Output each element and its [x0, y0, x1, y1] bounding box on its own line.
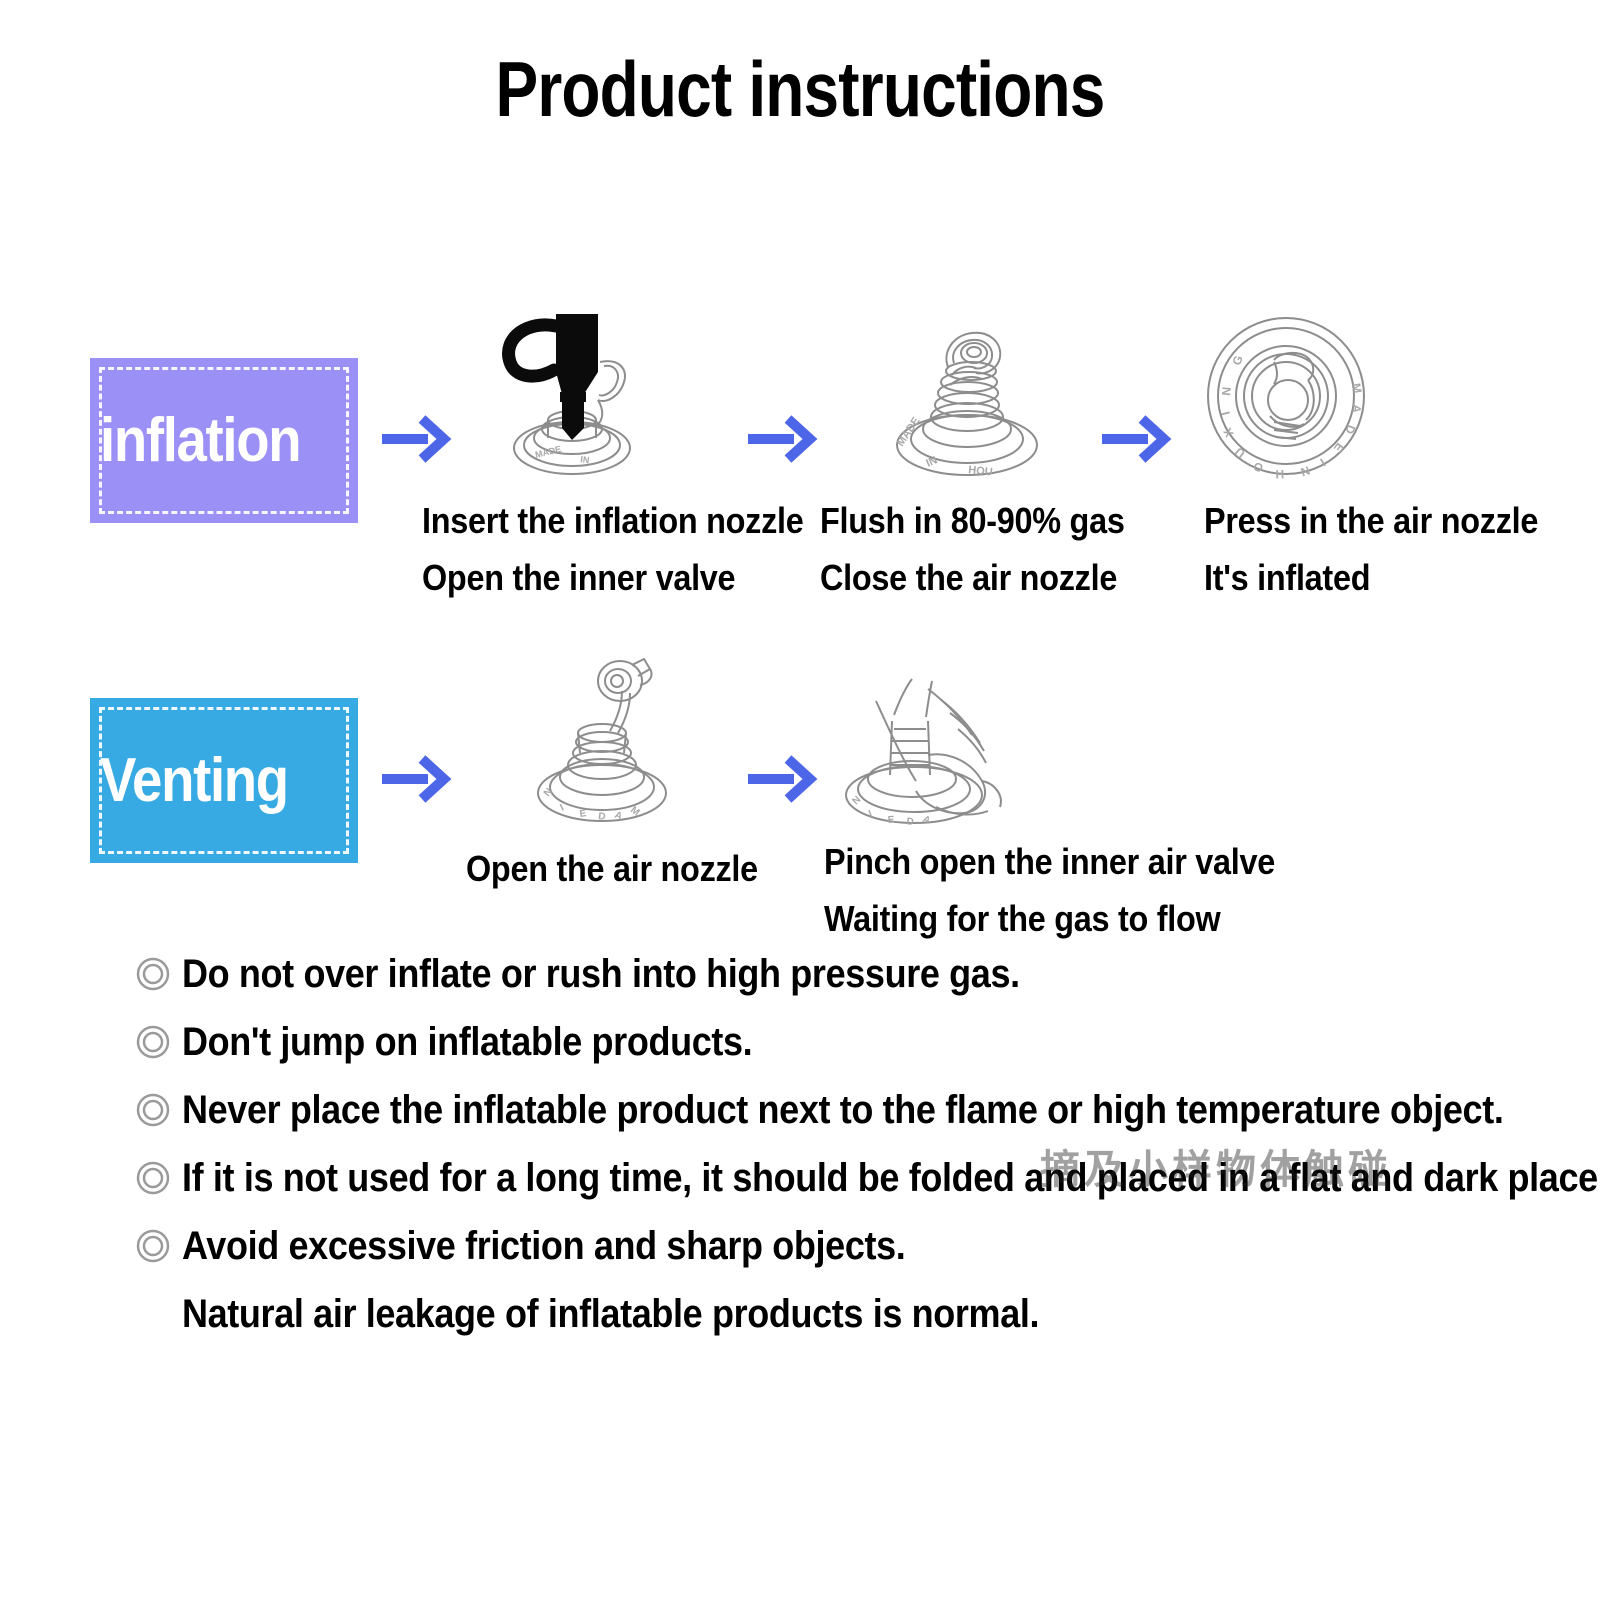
list-item: Natural air leakage of inflatable produc… [136, 1286, 1566, 1360]
double-circle-bullet-icon [136, 1082, 182, 1138]
note-text: If it is not used for a long time, it sh… [182, 1150, 1600, 1206]
valve-closed-icon: MADE IN HOU [872, 305, 1062, 485]
svg-text:D: D [598, 811, 606, 823]
step-caption: Insert the inflation nozzle [422, 492, 804, 550]
list-item: Do not over inflate or rush into high pr… [136, 946, 1566, 1014]
step-caption: Open the inner valve [422, 549, 735, 607]
svg-text:M: M [1349, 382, 1365, 394]
step-caption: Open the air nozzle [466, 840, 758, 898]
double-circle-bullet-icon [136, 1218, 182, 1274]
valve-top-view-icon: G N I X U O H N I E D A M [1196, 310, 1376, 485]
page-title: Product instructions [144, 46, 1456, 132]
svg-text:D: D [1342, 423, 1358, 436]
note-text: Natural air leakage of inflatable produc… [182, 1286, 1039, 1342]
svg-text:D: D [905, 816, 914, 828]
arrow-right-icon [378, 751, 452, 807]
flow-tag-label: Venting [100, 749, 288, 813]
svg-text:G: G [1230, 354, 1246, 367]
flow-tag-inflation: inflation [90, 358, 358, 523]
note-text: Never place the inflatable product next … [182, 1082, 1503, 1138]
product-instructions-page: Product instructions inflation [0, 0, 1600, 1600]
svg-text:MADE: MADE [895, 415, 923, 449]
safety-notes-list: Do not over inflate or rush into high pr… [136, 946, 1566, 1360]
arrow-right-icon [1098, 411, 1172, 467]
list-item: If it is not used for a long time, it sh… [136, 1150, 1566, 1218]
svg-text:A: A [1349, 404, 1364, 414]
double-circle-bullet-icon [136, 946, 182, 1002]
svg-text:A: A [921, 814, 932, 827]
flow-tag-label: inflation [100, 409, 300, 473]
note-text: Don't jump on inflatable products. [182, 1014, 752, 1070]
inflation-nozzle-inserted-icon: MADE IN [488, 300, 658, 480]
svg-text:O: O [1251, 459, 1265, 475]
list-item: Don't jump on inflatable products. [136, 1014, 1566, 1082]
step-caption: Press in the air nozzle [1204, 492, 1538, 550]
arrow-right-icon [744, 411, 818, 467]
note-text: Do not over inflate or rush into high pr… [182, 946, 1020, 1002]
list-item: Never place the inflatable product next … [136, 1082, 1566, 1150]
svg-text:U: U [1232, 444, 1247, 460]
double-circle-bullet-icon [136, 1150, 182, 1206]
arrow-right-icon [744, 751, 818, 807]
svg-text:N: N [542, 786, 555, 799]
step-caption: Flush in 80-90% gas [820, 492, 1125, 550]
step-caption: It's inflated [1204, 549, 1370, 607]
hand-pinch-valve-icon: N I E D A [832, 655, 1032, 840]
svg-text:H: H [1275, 467, 1284, 481]
step-caption: Pinch open the inner air valve [824, 833, 1275, 891]
svg-text:HOU: HOU [968, 464, 994, 478]
svg-text:X: X [1220, 426, 1236, 440]
valve-cap-open-icon: N I E D A M [522, 645, 702, 830]
step-caption: Close the air nozzle [820, 549, 1117, 607]
svg-text:I: I [867, 808, 874, 819]
svg-text:N: N [1299, 463, 1312, 479]
step-caption: Waiting for the gas to flow [824, 890, 1220, 948]
list-item: Avoid excessive friction and sharp objec… [136, 1218, 1566, 1286]
svg-text:E: E [887, 815, 895, 826]
double-circle-bullet-icon [136, 1014, 182, 1070]
flow-tag-venting: Venting [90, 698, 358, 863]
note-text: Avoid excessive friction and sharp objec… [182, 1218, 905, 1274]
svg-text:IN: IN [580, 454, 590, 465]
arrow-right-icon [378, 411, 452, 467]
svg-text:N: N [1219, 386, 1234, 396]
